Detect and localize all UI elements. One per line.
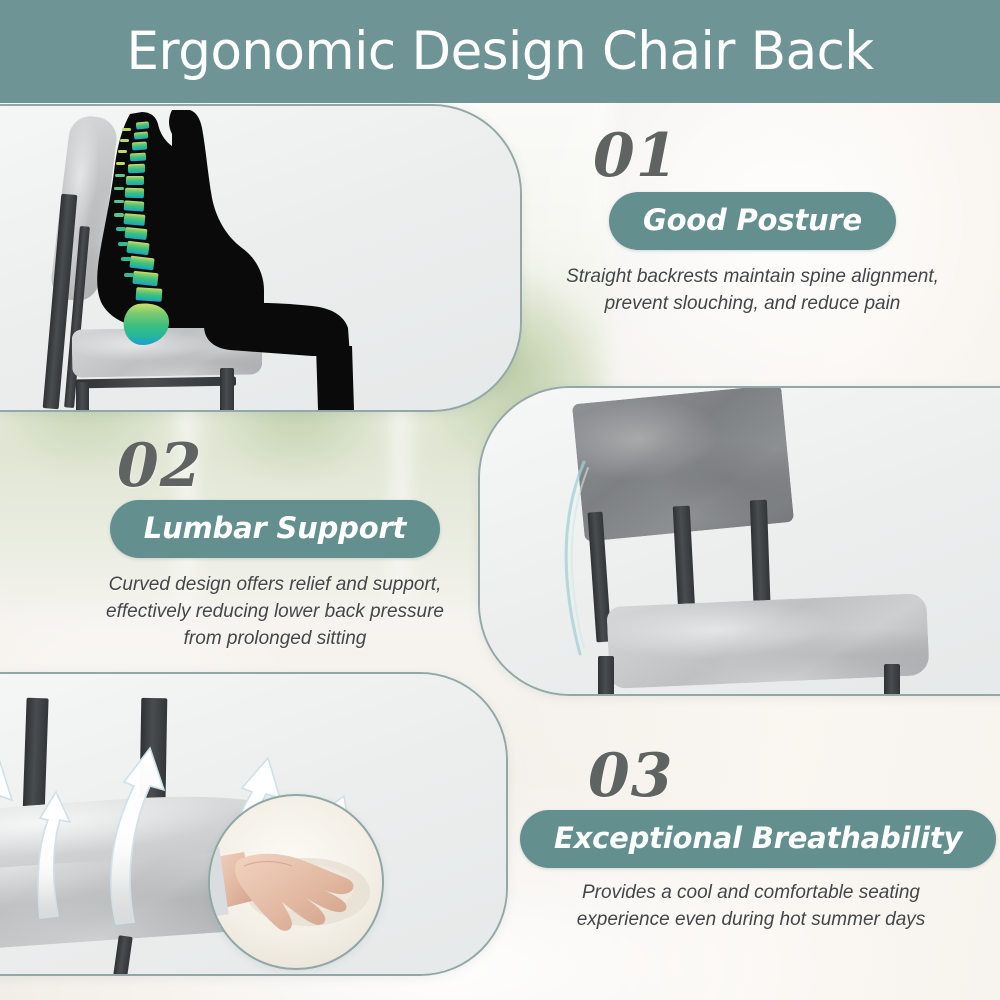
chair-front-leg-left: [598, 656, 614, 696]
feature-title-wrap: Lumbar Support: [55, 500, 495, 558]
feature-image-lumbar-support: [478, 386, 1000, 696]
feature-number: 01: [593, 126, 980, 186]
feature-image-good-posture: [0, 104, 522, 412]
feature-number: 02: [117, 436, 495, 496]
feature-title-wrap: Exceptional Breathability: [520, 810, 982, 868]
feature-number: 03: [588, 746, 982, 806]
feature-title-wrap: Good Posture: [525, 192, 980, 250]
feature-description: Curved design offers relief and support,…: [55, 572, 495, 653]
feature-image-breathability: [0, 672, 508, 976]
chair-seat-cushion: [606, 593, 929, 689]
feature-title-pill: Lumbar Support: [110, 500, 440, 558]
chair-front-leg-right: [884, 664, 900, 696]
memory-foam-inset: [208, 794, 384, 970]
header-banner: Ergonomic Design Chair Back: [0, 0, 1000, 103]
feature-description: Provides a cool and comfortable seating …: [520, 880, 982, 934]
feature-title-pill: Exceptional Breathability: [520, 810, 996, 868]
feature-description: Straight backrests maintain spine alignm…: [525, 264, 980, 318]
seated-posture-illustration: [0, 106, 520, 410]
feature-text-good-posture: 01 Good Posture Straight backrests maint…: [525, 126, 980, 318]
feature-text-breathability: 03 Exceptional Breathability Provides a …: [520, 746, 982, 934]
hand-pressing-foam-illustration: [210, 796, 382, 968]
product-infographic: Ergonomic Design Chair Back: [0, 0, 1000, 1000]
feature-text-lumbar-support: 02 Lumbar Support Curved design offers r…: [55, 436, 495, 653]
feature-title-pill: Good Posture: [609, 192, 896, 250]
page-title: Ergonomic Design Chair Back: [126, 21, 873, 82]
